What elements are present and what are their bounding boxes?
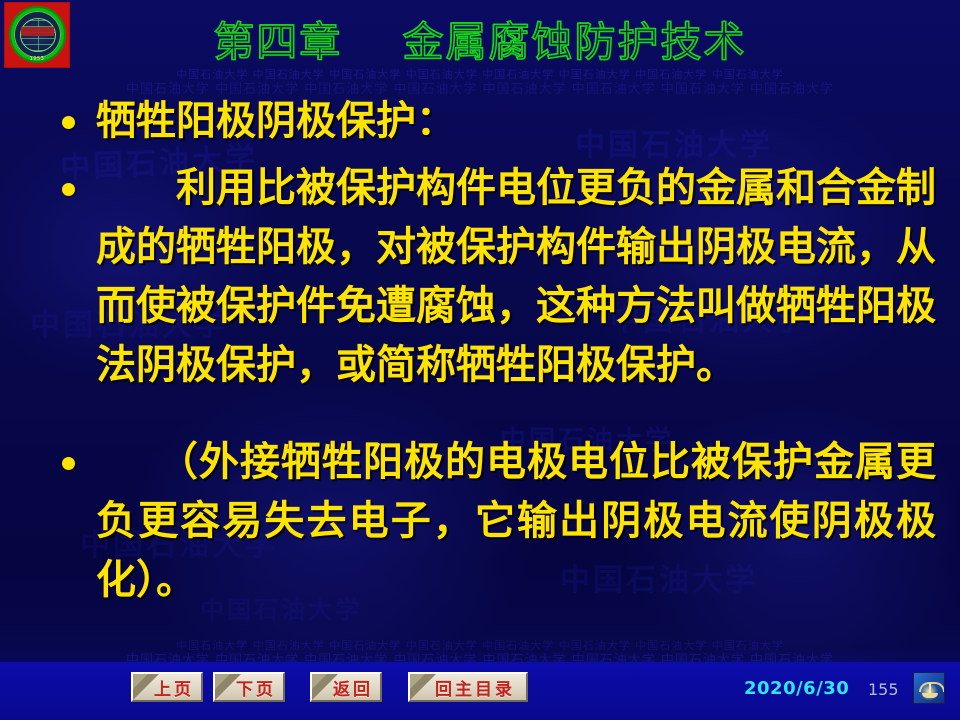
slide-canvas: 中国石油大学 中国石油大学 中国石油大学 中国石油大学 中国石油大学 中国石油大… (0, 0, 960, 720)
return-label: 返回 (319, 675, 373, 700)
bullet-paragraph: 利用比被保护构件电位更负的金属和合金制成的牺牲阳极，对被保护构件输出阴极电流，从… (0, 159, 960, 395)
candelabra-icon (913, 672, 945, 704)
page-number: 155 (868, 680, 899, 699)
next-page-button[interactable]: 下页 (213, 672, 285, 702)
previous-page-button[interactable]: 上页 (131, 672, 203, 702)
slide-body: 牺牲阳极阴极保护： 利用比被保护构件电位更负的金属和合金制成的牺牲阳极，对被保护… (0, 86, 960, 642)
bullet-paragraph: （外接牺牲阳极的电极电位比被保护金属更负更容易失去电子，它输出阴极电流使阴极极化… (0, 433, 960, 610)
main-menu-button[interactable]: 回主目录 (408, 672, 528, 702)
previous-page-label: 上页 (140, 675, 194, 700)
watermark-band: 中国石油大学 中国石油大学 中国石油大学 中国石油大学 中国石油大学 中国石油大… (0, 66, 960, 82)
bullet-point-icon (62, 116, 75, 129)
paragraph-text: 利用比被保护构件电位更负的金属和合金制成的牺牲阳极，对被保护构件输出阴极电流，从… (96, 159, 936, 395)
date-text: 2020/6/30 (744, 678, 849, 699)
paragraph-text: （外接牺牲阳极的电极电位比被保护金属更负更容易失去电子，它输出阴极电流使阴极极化… (96, 433, 936, 610)
bullet-paragraph: 牺牲阳极阴极保护： (0, 92, 960, 151)
footer-bar: 上页 下页 返回 回主目录 2020/6/30 155 (0, 662, 960, 720)
return-button[interactable]: 返回 (310, 672, 382, 702)
next-page-label: 下页 (222, 675, 276, 700)
candelabra-base (922, 693, 938, 698)
paragraph-text: 牺牲阳极阴极保护： (96, 92, 936, 151)
bullet-point-icon (62, 457, 75, 470)
candelabra-arms (919, 682, 945, 692)
page-title: 第四章 金属腐蚀防护技术 (0, 8, 960, 68)
main-menu-label: 回主目录 (421, 675, 515, 700)
bullet-point-icon (62, 183, 75, 196)
